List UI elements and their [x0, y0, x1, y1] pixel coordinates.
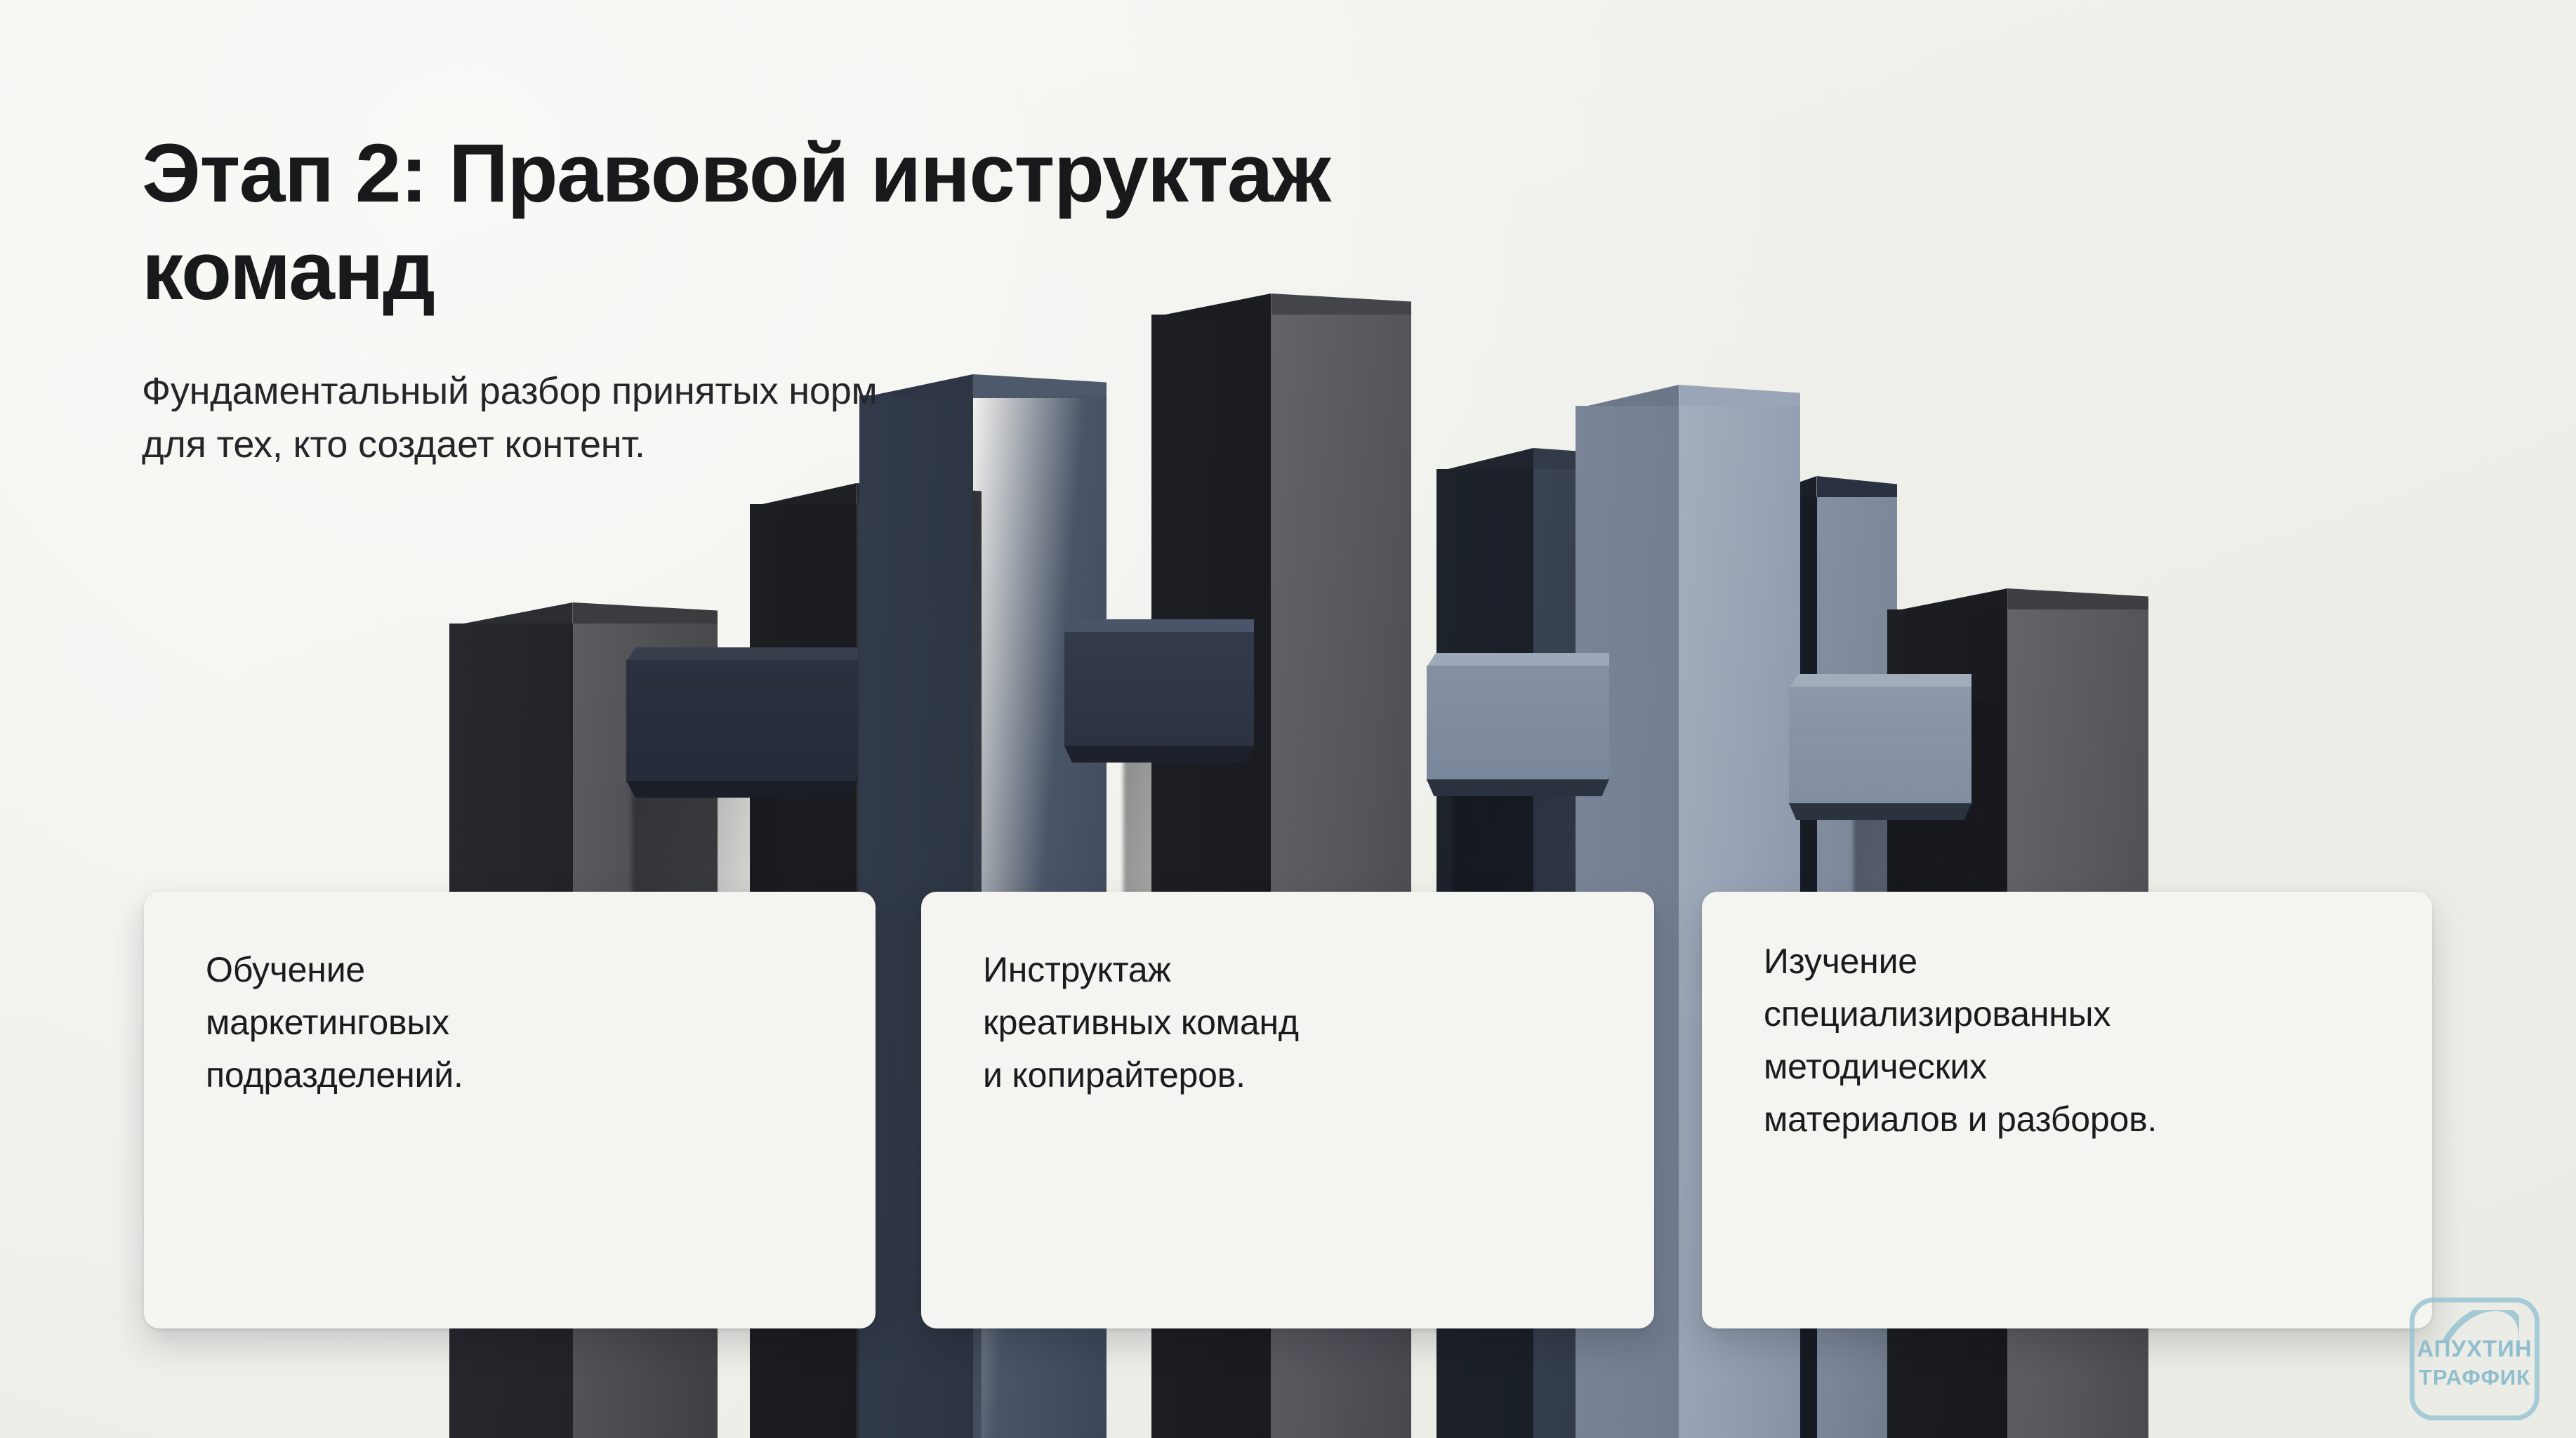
pillar-cap — [573, 602, 718, 626]
page-title: Этап 2: Правовой инструктаж команд — [142, 125, 1757, 320]
slide-canvas: Этап 2: Правовой инструктаж команд Фунда… — [0, 0, 2576, 1438]
crossbeam-left — [626, 660, 858, 798]
crossbeam-right — [1789, 687, 1971, 820]
crossbeam-top — [1064, 619, 1254, 633]
crossbeam-front — [1789, 687, 1971, 805]
pillar-cap — [2007, 588, 2148, 612]
info-card-1-text: Обучение маркетинговых подразделений. — [206, 944, 826, 1102]
crossbeam-top — [1427, 653, 1609, 667]
pillar-cap — [1748, 476, 1817, 500]
info-card-2-text: Инструктаж креативных команд и копирайте… — [983, 944, 1605, 1102]
crossbeam-center-left — [1064, 632, 1254, 763]
crossbeam-front — [626, 660, 858, 782]
pillar-cap — [857, 483, 982, 507]
crossbeam-front — [1427, 666, 1609, 781]
logo-text-line-2: ТРАФФИК — [2410, 1365, 2539, 1390]
page-subtitle: Фундаментальный разбор принятых норм для… — [142, 320, 1757, 471]
crossbeam-front — [1064, 632, 1254, 747]
pillar-cap — [1817, 476, 1897, 500]
info-card-3-text: Изучение специализированных методических… — [1764, 935, 2383, 1146]
crossbeam-center-right — [1427, 666, 1609, 796]
cards-row: Обучение маркетинговых подразделений. Ин… — [0, 892, 2576, 1341]
logo-text-line-1: АПУХТИН — [2410, 1335, 2539, 1362]
pillar-cap — [1887, 588, 2007, 612]
pillar-cap — [449, 602, 573, 626]
crossbeam-bottom — [626, 781, 858, 798]
crossbeam-top — [626, 647, 858, 661]
crossbeam-top — [1789, 674, 1971, 688]
info-card-1[interactable]: Обучение маркетинговых подразделений. — [144, 892, 876, 1328]
crossbeam-bottom — [1064, 746, 1254, 763]
headline-block: Этап 2: Правовой инструктаж команд Фунда… — [142, 125, 1757, 472]
crossbeam-bottom — [1789, 803, 1971, 820]
crossbeam-bottom — [1427, 779, 1609, 796]
info-card-2[interactable]: Инструктаж креативных команд и копирайте… — [921, 892, 1654, 1328]
pillar-cap — [750, 483, 857, 507]
brand-watermark-logo: АПУХТИН ТРАФФИК — [2410, 1298, 2539, 1420]
info-card-3[interactable]: Изучение специализированных методических… — [1702, 892, 2432, 1328]
